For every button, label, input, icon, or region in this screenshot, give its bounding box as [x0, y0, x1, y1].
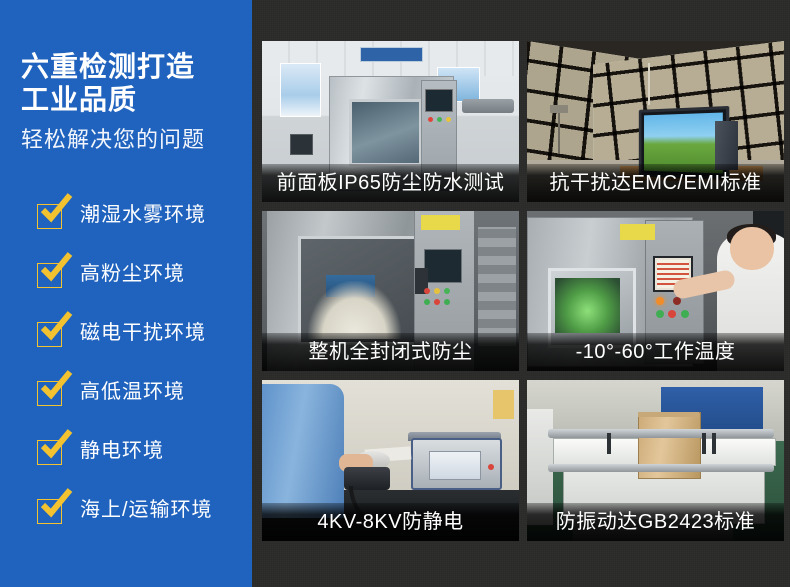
- list-item-label: 静电环境: [80, 435, 164, 467]
- feature-checklist: 潮湿水雾环境 高粉尘环境 磁电干扰环境: [0, 200, 252, 554]
- list-item-label: 高低温环境: [80, 376, 185, 408]
- page-subtitle: 轻松解决您的问题: [21, 127, 241, 153]
- headline-line-2: 工业品质: [21, 83, 236, 116]
- photo-caption: 整机全封闭式防尘: [262, 333, 519, 371]
- checkbox-frame: [37, 322, 62, 347]
- list-item: 磁电干扰环境: [0, 318, 252, 377]
- list-item: 高粉尘环境: [0, 259, 252, 318]
- list-item: 潮湿水雾环境: [0, 200, 252, 259]
- product-feature-banner: 六重检测打造 工业品质 轻松解决您的问题 潮湿水雾环境 高粉尘环境: [0, 0, 790, 587]
- headline-line-1: 六重检测打造: [21, 51, 195, 82]
- list-item-label: 高粉尘环境: [80, 258, 185, 290]
- photo-caption: 抗干扰达EMC/EMI标准: [527, 164, 784, 202]
- list-item-label: 海上/运输环境: [80, 494, 213, 526]
- photo-caption: -10°-60°工作温度: [527, 333, 784, 371]
- photo-cell-dust: 整机全封闭式防尘: [262, 211, 519, 372]
- photo-cell-vibration: 防振动达GB2423标准: [527, 380, 784, 541]
- list-item: 静电环境: [0, 436, 252, 495]
- photo-caption: 前面板IP65防尘防水测试: [262, 164, 519, 202]
- photo-caption: 4KV-8KV防静电: [262, 503, 519, 541]
- list-item-label: 潮湿水雾环境: [80, 199, 206, 231]
- photo-cell-water-spray: 前面板IP65防尘防水测试: [262, 41, 519, 202]
- left-info-panel: 六重检测打造 工业品质 轻松解决您的问题 潮湿水雾环境 高粉尘环境: [0, 0, 252, 587]
- checkbox-frame: [37, 440, 62, 465]
- list-item: 高低温环境: [0, 377, 252, 436]
- photo-caption: 防振动达GB2423标准: [527, 503, 784, 541]
- photo-cell-emc: 抗干扰达EMC/EMI标准: [527, 41, 784, 202]
- checkbox-frame: [37, 381, 62, 406]
- list-item-label: 磁电干扰环境: [80, 317, 206, 349]
- checkbox-frame: [37, 263, 62, 288]
- checkbox-frame: [37, 499, 62, 524]
- photo-cell-temperature: -10°-60°工作温度: [527, 211, 784, 372]
- checkbox-frame: [37, 204, 62, 229]
- page-title: 六重检测打造 工业品质: [21, 50, 236, 116]
- test-photo-grid: 前面板IP65防尘防水测试 抗干扰达EMC/EMI标准 整机全封闭式防尘: [262, 41, 784, 541]
- photo-cell-esd: 4KV-8KV防静电: [262, 380, 519, 541]
- list-item: 海上/运输环境: [0, 495, 252, 554]
